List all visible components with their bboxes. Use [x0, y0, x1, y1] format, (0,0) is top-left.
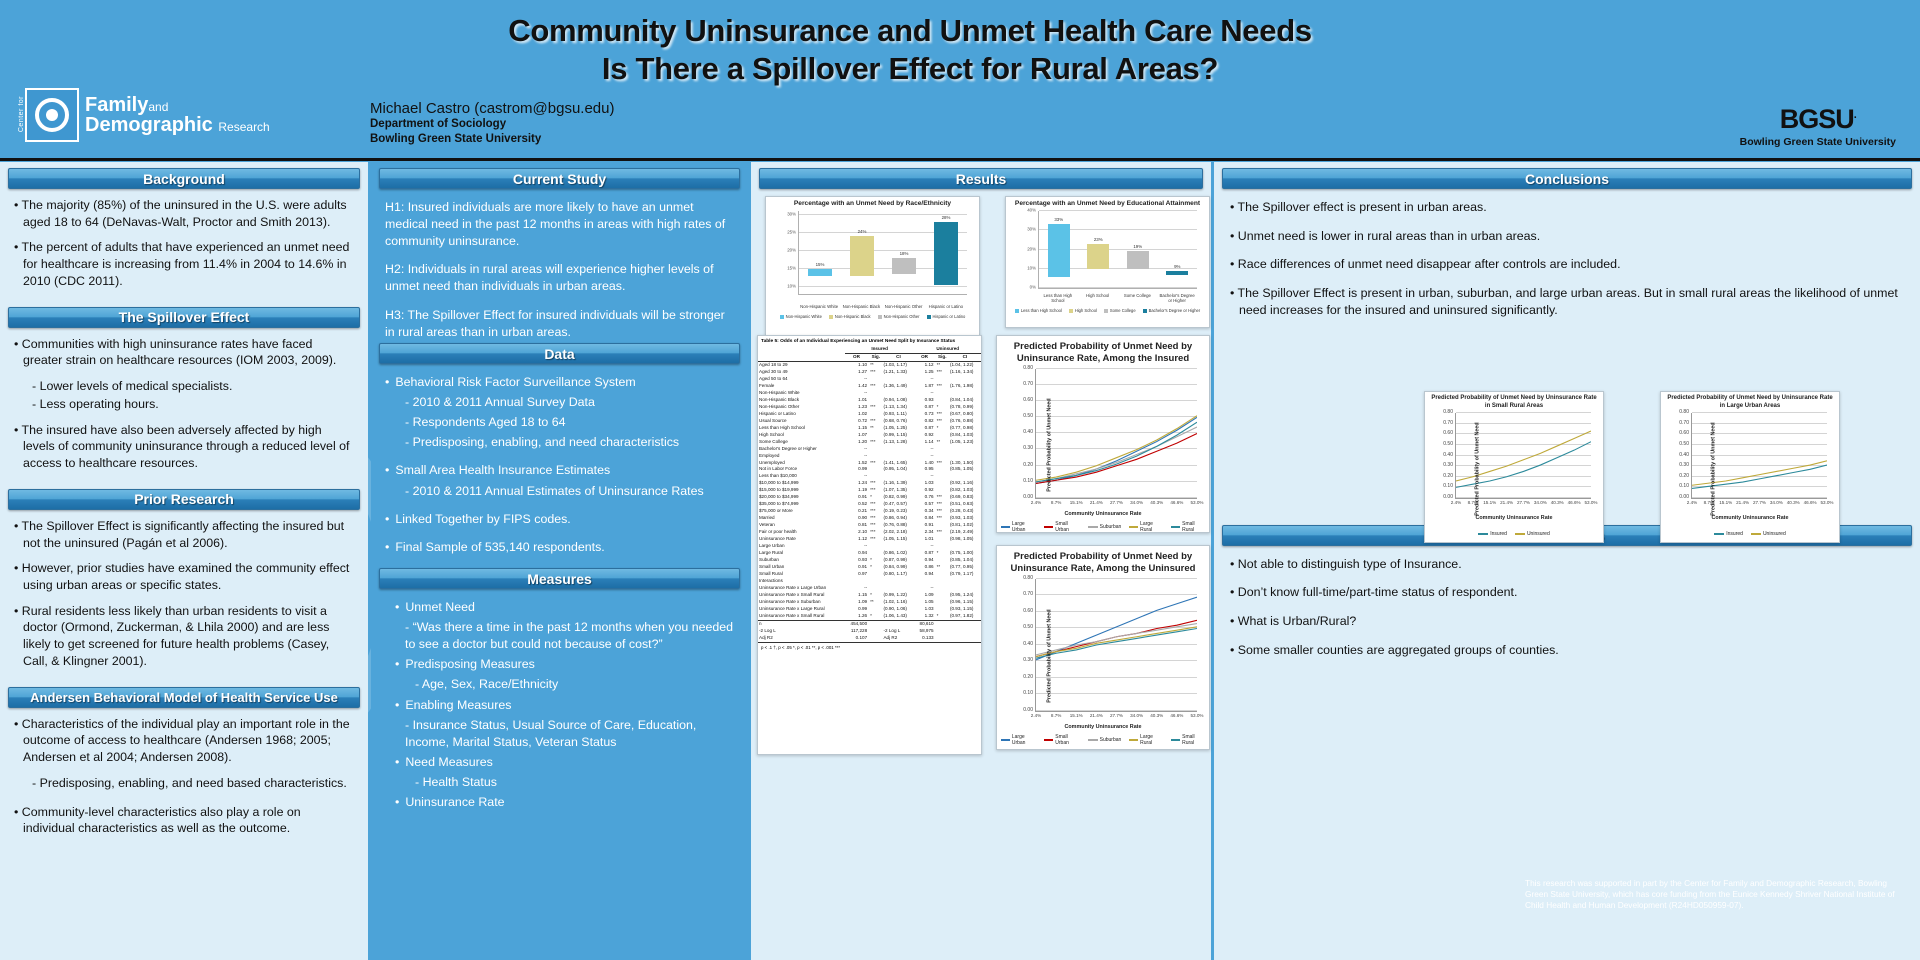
x-tick: 46.6%	[1568, 500, 1581, 505]
header-divider	[0, 158, 1920, 161]
author-name: Michael Castro (castrom@bgsu.edu)	[370, 100, 614, 117]
table-row: Uninsurance Rate x Suburban1.09**(1.02, …	[758, 599, 981, 606]
table-row: Veteran0.81***(0.76, 0.88)0.91(0.81, 1.0…	[758, 522, 981, 529]
table-cell	[868, 466, 882, 473]
table-cell: (0.76, 0.88)	[949, 418, 981, 425]
table-cell: 0.73	[914, 411, 934, 418]
legend-item: Less than High School	[1015, 308, 1062, 313]
table-cell: 1.52	[845, 460, 868, 467]
table-cell	[935, 557, 949, 564]
table-cell: 0.92	[914, 432, 934, 439]
table-cell: (0.98, 1.05)	[949, 536, 981, 543]
chart-uninsured: Predicted Probability of Unmet Need by U…	[996, 545, 1210, 750]
table-row: Uninsurance Rate x Large Urban----	[758, 585, 981, 592]
y-axis-label: Predicted Probability of Unmet Need	[1047, 398, 1053, 491]
cfdr-line2: Demographic	[85, 114, 213, 136]
table-cell: (0.51, 0.63)	[949, 501, 981, 508]
y-tick: 0.20	[1023, 674, 1033, 680]
table-footer-cell	[949, 628, 981, 635]
x-tick-label: Non-Hispanic White	[799, 304, 840, 309]
table-cell: 0.81	[845, 522, 868, 529]
table-cell: ***	[868, 404, 882, 411]
conclusion-1: • The Spillover effect is present in urb…	[1230, 199, 1904, 216]
table-cell: ***	[868, 439, 882, 446]
legend-item: Suburban	[1088, 521, 1122, 533]
table-cell: (1.13, 1.34)	[882, 404, 914, 411]
prior-para-3: • Rural residents less likely than urban…	[14, 603, 354, 670]
table-cell: 0.57	[914, 501, 934, 508]
chart-small-rural: Predicted Probability of Unmet Need by U…	[1424, 391, 1604, 543]
table-cell: 2.10	[845, 529, 868, 536]
y-tick: 0.20	[1443, 473, 1453, 479]
table-title: Table 5: Odds of an Individual Experienc…	[758, 336, 981, 346]
table-row: Hispanic or Latino1.02(0.93, 1.11)0.73**…	[758, 411, 981, 418]
chart-race-legend: Non-Hispanic WhiteNon-Hispanic BlackNon-…	[766, 314, 979, 319]
legend-item: High School	[1069, 308, 1097, 313]
table-cell: Small Urban	[758, 564, 845, 571]
table-footer-cell: -2 Log L	[882, 628, 914, 635]
table-cell: (0.77, 0.95)	[949, 564, 981, 571]
table-cell: (0.76, 0.88)	[882, 522, 914, 529]
data-item-4: Final Sample of 535,140 respondents.	[385, 539, 734, 556]
legend-item: Insured	[1714, 531, 1743, 537]
chart-legend: InsuredUninsured	[1429, 531, 1599, 537]
table-cell: --	[914, 453, 934, 460]
table-cell: (0.90, 1.06)	[882, 606, 914, 613]
chart-small-rural-title: Predicted Probability of Unmet Need by U…	[1425, 392, 1603, 410]
spillover-body: • Communities with high uninsurance rate…	[0, 328, 368, 483]
table-cell: (1.02, 1.16)	[882, 599, 914, 606]
legend-item: Small Urban	[1044, 734, 1079, 746]
series-suburban	[1036, 427, 1197, 482]
table-cell	[935, 543, 949, 550]
table-cell: 1.27	[845, 369, 868, 376]
chart-race-title: Percentage with an Unmet Need by Race/Et…	[766, 197, 979, 207]
current-study-body: H1: Insured individuals are more likely …	[371, 189, 748, 337]
table-cell: (0.82, 1.03)	[949, 487, 981, 494]
legend-item: Hispanic or Latino	[927, 314, 966, 319]
table-footer-cell: 454,500	[845, 620, 868, 627]
table-cell	[882, 578, 914, 585]
spillover-sub-2: - Less operating hours.	[14, 396, 354, 413]
table-col-header: OR	[845, 353, 868, 361]
y-tick: 0.40	[1679, 452, 1689, 458]
table-cell: 1.23	[845, 404, 868, 411]
table-cell	[935, 432, 949, 439]
table-cell: 0.87	[914, 425, 934, 432]
x-tick: 34.0%	[1534, 500, 1547, 505]
table-row: $10,000 to $14,9991.24***(1.16, 1.39)1.0…	[758, 480, 981, 487]
y-tick: 0.40	[1023, 429, 1033, 435]
table-cell: Small Rural	[758, 571, 845, 578]
x-tick-label: Non-Hispanic Black	[841, 304, 882, 309]
table-cell: (0.85, 1.05)	[949, 466, 981, 473]
y-tick: 0.70	[1443, 420, 1453, 426]
y-tick: 0.60	[1443, 430, 1453, 436]
table-cell	[949, 446, 981, 453]
table-cell: Less than $10,000	[758, 473, 845, 480]
table-cell: 0.93	[914, 397, 934, 404]
andersen-para-1: • Characteristics of the individual play…	[14, 716, 354, 766]
y-tick: 0.60	[1023, 397, 1033, 403]
legend-item: Large Rural	[1129, 521, 1163, 533]
x-tick: 53.0%	[1190, 500, 1203, 505]
table-row: $75,000 or More0.21***(0.19, 0.23)0.34**…	[758, 508, 981, 515]
table-cell: ***	[868, 487, 882, 494]
table-cell: 1.25	[914, 369, 934, 376]
table-significance-note: p < .1 †, p < .05 *, p < .01 **, p < .00…	[758, 642, 981, 652]
table-cell: 0.95	[914, 466, 934, 473]
table-cell	[935, 390, 949, 397]
table-cell: 1.09	[914, 592, 934, 599]
table-cell: 0.91	[845, 564, 868, 571]
table-row: Less than High School1.15**(1.05, 1.25)0…	[758, 425, 981, 432]
x-tick: 46.6%	[1804, 500, 1817, 505]
cfdr-logo: Familyand Demographic Research	[25, 88, 270, 142]
table-cell	[949, 473, 981, 480]
legend-item: Small Rural	[1171, 521, 1205, 533]
table-cell: (0.86, 0.94)	[882, 515, 914, 522]
table-cell: (0.95, 1.04)	[882, 466, 914, 473]
y-axis-label: Predicted Probability of Unmet Need	[1475, 422, 1481, 515]
table-cell: (1.05, 1.15)	[882, 536, 914, 543]
table-cell: 0.86	[914, 564, 934, 571]
table-cell: ***	[868, 460, 882, 467]
table-cell: 0.90	[845, 515, 868, 522]
table-cell: 0.93	[845, 557, 868, 564]
table-row: Employed----	[758, 453, 981, 460]
table-cell: --	[845, 453, 868, 460]
limitation-1: • Not able to distinguish type of Insura…	[1230, 556, 1904, 573]
table-cell	[868, 606, 882, 613]
chart-insured: Predicted Probability of Unmet Need by U…	[996, 335, 1210, 533]
bar-3: 9%	[1166, 271, 1188, 288]
table-cell: Uninsurance Rate x Small Rural	[758, 613, 845, 620]
bgsu-logo: BGSU. Bowling Green State University	[1740, 104, 1896, 148]
y-tick: 20%	[1027, 246, 1036, 251]
table-cell: (1.36, 1.49)	[882, 383, 914, 390]
y-tick: 0.50	[1023, 413, 1033, 419]
cfdr-line1-and: and	[148, 100, 168, 114]
section-header-background: Background	[8, 168, 360, 189]
table-cell: ***	[868, 529, 882, 536]
y-tick: 30%	[787, 211, 796, 216]
table-cell: Less than High School	[758, 425, 845, 432]
hypothesis-2: H2: Individuals in rural areas will expe…	[385, 261, 734, 295]
limitation-4: • Some smaller counties are aggregated g…	[1230, 642, 1904, 659]
measure-need: Need Measures	[395, 754, 734, 771]
table-cell: *	[868, 613, 882, 620]
x-tick: 40.3%	[1787, 500, 1800, 505]
table-cell: 0.99	[845, 466, 868, 473]
table-cell: (0.84, 0.99)	[882, 564, 914, 571]
legend-item: Large Urban	[1001, 734, 1036, 746]
legend-item: Suburban	[1088, 734, 1122, 746]
x-tick: 8.7%	[1051, 713, 1061, 718]
table-row: Aged 18 to 291.10**(1.03, 1.17)1.12**(1.…	[758, 361, 981, 368]
table-cell	[935, 446, 949, 453]
table-row: Married0.90***(0.86, 0.94)0.84***(0.93, …	[758, 515, 981, 522]
x-tick: 34.0%	[1130, 713, 1143, 718]
x-axis-label: Community Uninsurance Rate	[1429, 515, 1599, 521]
table-cell	[868, 585, 882, 592]
table-row: Uninsurance Rate x Large Rural0.99(0.90,…	[758, 606, 981, 613]
table-cell: (2.02, 2.18)	[882, 529, 914, 536]
conclusion-4: • The Spillover Effect is present in urb…	[1230, 285, 1904, 318]
table-cell: 1.12	[845, 536, 868, 543]
x-tick: 53.0%	[1584, 500, 1597, 505]
bar-0: 33%	[1048, 224, 1070, 288]
table-cell: High School	[758, 432, 845, 439]
table-cell	[935, 376, 949, 383]
table-cell	[935, 606, 949, 613]
table-cell: Uninsurance Rate x Large Rural	[758, 606, 845, 613]
table-cell: (0.84, 1.03)	[949, 432, 981, 439]
table-cell: *	[868, 557, 882, 564]
measure-unmet-need-sub: - “Was there a time in the past 12 month…	[395, 619, 734, 653]
measure-enabling: Enabling Measures	[395, 697, 734, 714]
x-tick: 27.7%	[1753, 500, 1766, 505]
bar-value-label: 9%	[1166, 264, 1188, 269]
table-cell	[949, 453, 981, 460]
y-tick: 0.10	[1443, 483, 1453, 489]
table-cell: 0.34	[914, 508, 934, 515]
measure-unmet-need: Unmet Need	[395, 599, 734, 616]
y-tick: 0.10	[1023, 478, 1033, 484]
table-cell: (0.78, 0.99)	[949, 404, 981, 411]
title-line-2: Is There a Spillover Effect for Rural Ar…	[370, 50, 1450, 88]
cfdr-mark-icon	[25, 88, 79, 142]
bgsu-mark: BGSU	[1780, 104, 1854, 134]
table-col-header: CI	[949, 353, 981, 361]
chart-race-ethnicity: Percentage with an Unmet Need by Race/Et…	[765, 196, 980, 336]
table-cell: $10,000 to $14,999	[758, 480, 845, 487]
table-cell: 0.91	[845, 494, 868, 501]
legend-item: Small Rural	[1171, 734, 1205, 746]
table-cell	[935, 453, 949, 460]
table-cell	[882, 473, 914, 480]
background-para-1: • The majority (85%) of the uninsured in…	[14, 197, 354, 230]
y-tick: 0.70	[1679, 420, 1689, 426]
table-cell	[882, 453, 914, 460]
table-cell	[868, 473, 882, 480]
table-cell: 0.94	[914, 557, 934, 564]
table-cell: --	[914, 543, 934, 550]
table-cell: 1.15	[845, 425, 868, 432]
table-footer: n454,50080,610-2 Log L117,228-2 Log L58,…	[758, 620, 981, 641]
cfdr-side-text: Center for	[18, 96, 25, 132]
y-tick: 0.80	[1679, 409, 1689, 415]
table-row: Uninsurance Rate x Small Rural1.26*(1.06…	[758, 613, 981, 620]
table-cell: **	[935, 564, 949, 571]
legend-item: Insured	[1478, 531, 1507, 537]
table-cell	[935, 571, 949, 578]
table-cell: ***	[935, 529, 949, 536]
table-cell: Uninsurance Rate x Suburban	[758, 599, 845, 606]
table-row: Fair or poor health2.10***(2.02, 2.18)2.…	[758, 529, 981, 536]
table-cell	[949, 585, 981, 592]
table-cell: (1.16, 1.39)	[882, 480, 914, 487]
table-cell: (1.05, 1.23)	[949, 439, 981, 446]
x-tick: 40.3%	[1551, 500, 1564, 505]
data-body: Behavioral Risk Factor Surveillance Syst…	[371, 364, 748, 562]
x-tick: 15.1%	[1070, 500, 1083, 505]
table-cell: (0.85, 1.04)	[949, 557, 981, 564]
table-cell: 1.20	[845, 439, 868, 446]
table-cell: (0.47, 0.57)	[882, 501, 914, 508]
table-cell: 0.92	[914, 487, 934, 494]
page-title: Community Uninsurance and Unmet Health C…	[370, 12, 1450, 88]
table-footer-cell: -2 Log L	[758, 628, 845, 635]
table-footer-cell: n	[758, 620, 845, 627]
data-item-2: Small Area Health Insurance Estimates	[385, 462, 734, 479]
table-cell: --	[845, 543, 868, 550]
odds-ratio-table: Insured Uninsured ORSig.CIORSig.CI Aged …	[758, 346, 981, 642]
table-cell: ***	[935, 501, 949, 508]
table-cell: *	[935, 550, 949, 557]
table-cell	[935, 578, 949, 585]
table-row: Small Urban0.91*(0.84, 0.99)0.86**(0.77,…	[758, 564, 981, 571]
x-tick: 15.1%	[1070, 713, 1083, 718]
table-cell: 1.03	[914, 480, 934, 487]
table-cell: 1.03	[914, 606, 934, 613]
bar-0: 15%	[808, 269, 832, 294]
table-cell	[935, 592, 949, 599]
table-row: Large Urban----	[758, 543, 981, 550]
y-tick: 0%	[1030, 285, 1036, 290]
table-row: $35,000 to $74,9990.52***(0.47, 0.57)0.5…	[758, 501, 981, 508]
x-axis-label: Community Uninsurance Rate	[1001, 724, 1205, 730]
x-tick: 21.4%	[1090, 500, 1103, 505]
table-cell: ***	[868, 536, 882, 543]
author-department: Department of Sociology	[370, 117, 614, 132]
table-cell: Suburban	[758, 557, 845, 564]
table-cell: 1.26	[845, 613, 868, 620]
chart-large-urban: Predicted Probability of Unmet Need by U…	[1660, 391, 1840, 543]
table-cell: 0.87	[914, 550, 934, 557]
table-cell: $20,000 to $34,999	[758, 494, 845, 501]
table-cell: (1.13, 1.28)	[882, 439, 914, 446]
table-cell: (1.76, 1.98)	[949, 383, 981, 390]
table-footer-cell: 0.133	[914, 635, 934, 642]
y-tick: 0.40	[1023, 641, 1033, 647]
y-tick: 0.30	[1443, 462, 1453, 468]
table-cell: 1.14	[914, 439, 934, 446]
chart-education: Percentage with an Unmet Need by Educati…	[1005, 196, 1210, 328]
limitation-3: • What is Urban/Rural?	[1230, 613, 1904, 630]
table-cell	[935, 536, 949, 543]
table-cell: (0.69, 0.83)	[949, 494, 981, 501]
table-cell: ***	[935, 369, 949, 376]
series-large-rural	[1036, 416, 1197, 481]
table-cell: (0.87, 0.99)	[882, 557, 914, 564]
x-axis-label: Community Uninsurance Rate	[1001, 511, 1205, 517]
table-footer-cell: 58,975	[914, 628, 934, 635]
y-tick: 0.20	[1679, 473, 1689, 479]
table-cell: (0.84, 1.04)	[949, 397, 981, 404]
table-cell: (0.96, 1.15)	[949, 599, 981, 606]
table-row: Non-Hispanic Black1.01(0.94, 1.08)0.93(0…	[758, 397, 981, 404]
chart-education-title: Percentage with an Unmet Need by Educati…	[1006, 197, 1209, 207]
table-group-header-row: Insured Uninsured	[758, 346, 981, 353]
prior-research-body: • The Spillover Effect is significantly …	[0, 510, 368, 681]
table-cell: ***	[868, 383, 882, 390]
table-cell: (1.41, 1.65)	[882, 460, 914, 467]
y-tick: 0.30	[1023, 445, 1033, 451]
table-cell	[868, 453, 882, 460]
table-cell: (1.21, 1.33)	[882, 369, 914, 376]
table-cell	[935, 487, 949, 494]
y-tick: 0.80	[1443, 409, 1453, 415]
bar-1: 24%	[850, 236, 874, 294]
background-para-2: • The percent of adults that have experi…	[14, 239, 354, 289]
table-cell: --	[914, 446, 934, 453]
table-cell: Female	[758, 383, 845, 390]
table-cell: (1.03, 1.17)	[882, 361, 914, 368]
table-cell: 1.19	[845, 487, 868, 494]
chart-large-urban-title: Predicted Probability of Unmet Need by U…	[1661, 392, 1839, 410]
y-tick: 0.20	[1023, 462, 1033, 468]
table-cell	[868, 550, 882, 557]
table-cell: Aged 30 to 49	[758, 369, 845, 376]
table-cell: Uninsurance Rate x Small Rural	[758, 592, 845, 599]
table-row: Aged 30 to 491.27***(1.21, 1.33)1.25***(…	[758, 369, 981, 376]
table-cell	[868, 446, 882, 453]
limitation-2: • Don’t know full-time/part-time status …	[1230, 584, 1904, 601]
measure-predisposing-sub: - Age, Sex, Race/Ethnicity	[395, 676, 734, 693]
table-cell: 1.40	[914, 460, 934, 467]
table-cell: **	[935, 361, 949, 368]
table-cell: 0.87	[914, 404, 934, 411]
table-cell: (0.80, 1.17)	[882, 571, 914, 578]
table-cell: $15,000 to $19,999	[758, 487, 845, 494]
table-cell: (0.81, 1.02)	[949, 522, 981, 529]
measure-need-sub: - Health Status	[395, 774, 734, 791]
table-cell: (0.97, 1.82)	[949, 613, 981, 620]
table-cell: (0.94, 1.08)	[882, 397, 914, 404]
table-cell: 1.32	[914, 613, 934, 620]
table-cell: $75,000 or More	[758, 508, 845, 515]
legend-item: Some College	[1104, 308, 1136, 313]
table-row: Interactions	[758, 578, 981, 585]
author-block: Michael Castro (castrom@bgsu.edu) Depart…	[370, 100, 614, 147]
measure-enabling-sub: - Insurance Status, Usual Source of Care…	[395, 717, 734, 751]
table-cell: **	[935, 439, 949, 446]
cfdr-line1: Family	[85, 94, 148, 116]
title-line-1: Community Uninsurance and Unmet Health C…	[370, 12, 1450, 50]
table-cell: Some College	[758, 439, 845, 446]
x-tick: 15.1%	[1719, 500, 1732, 505]
table-cell: *	[868, 592, 882, 599]
bgsu-sup: .	[1854, 109, 1856, 121]
x-tick: 40.3%	[1150, 500, 1163, 505]
table-cell	[914, 578, 934, 585]
table-cell: --	[914, 390, 934, 397]
table-col-header: OR	[914, 353, 934, 361]
table-cell	[868, 376, 882, 383]
table-footer-cell: Adj R2	[882, 635, 914, 642]
table-cell: Large Urban	[758, 543, 845, 550]
table-cell: *	[935, 404, 949, 411]
x-tick: 8.7%	[1051, 500, 1061, 505]
x-tick: 21.4%	[1090, 713, 1103, 718]
table-row: Non-Hispanic White----	[758, 390, 981, 397]
table-row: Small Rural0.97(0.80, 1.17)0.94(0.79, 1.…	[758, 571, 981, 578]
table-cell: Unemployed	[758, 460, 845, 467]
funding-note: This research was supported in part by t…	[1525, 878, 1910, 910]
table-cell: (0.95, 1.24)	[949, 592, 981, 599]
table-footer-cell: 80,610	[914, 620, 934, 627]
